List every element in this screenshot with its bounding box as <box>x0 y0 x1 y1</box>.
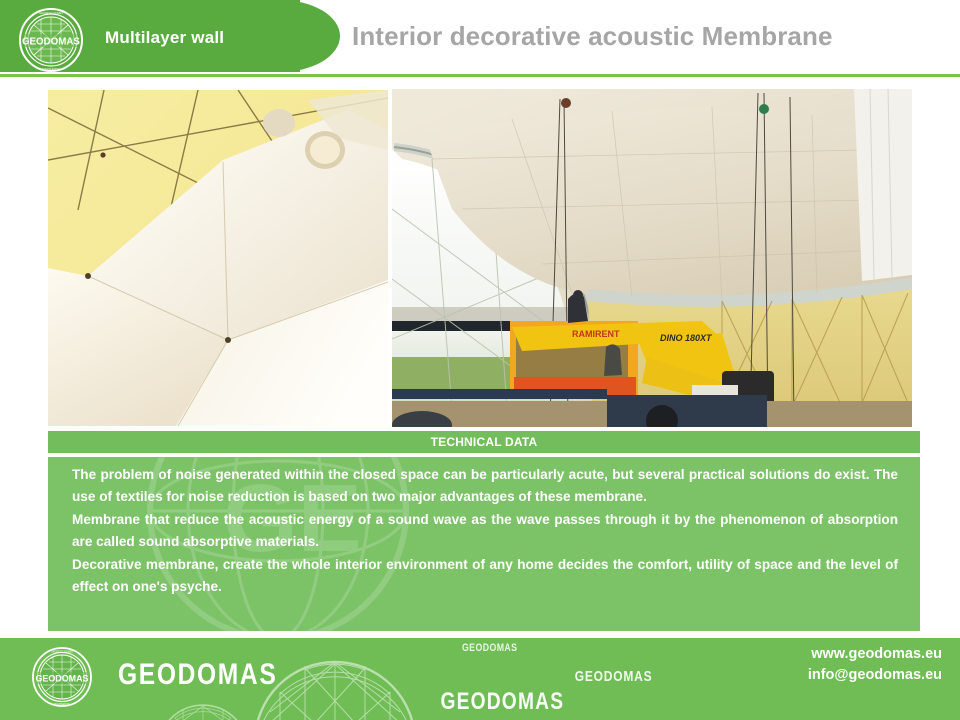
footer-geodomas-logo-icon: GEODOMAS GEODESIC DOMES ENGINEERING <box>26 646 98 708</box>
photo-dome-installation-boom-lift: RAMIRENT DINO 180XT <box>392 89 912 427</box>
svg-text:GEODOMAS: GEODOMAS <box>35 673 88 683</box>
technical-data-body: The problem of noise generated within th… <box>72 464 898 599</box>
panel-divider <box>48 453 920 457</box>
geodesic-dome-graphic-small <box>155 690 251 720</box>
footer-website[interactable]: www.geodomas.eu <box>808 644 942 665</box>
footer-contact-block: www.geodomas.eu info@geodomas.eu <box>808 644 942 686</box>
footer-wordmark: GEODOMAS <box>118 658 277 692</box>
technical-data-panel: GE TECHNICAL DATA The problem of noise g… <box>48 431 920 631</box>
paragraph-noise-problem: The problem of noise generated within th… <box>72 464 898 508</box>
header-rule <box>0 74 960 77</box>
paragraph-sound-absorptive: Membrane that reduce the acoustic energy… <box>72 509 898 553</box>
page-title: Interior decorative acoustic Membrane <box>352 21 833 52</box>
svg-text:GEODESIC DOMES: GEODESIC DOMES <box>51 651 73 654</box>
svg-text:RAMIRENT: RAMIRENT <box>572 329 620 339</box>
svg-text:GEODESIC DOMES: GEODESIC DOMES <box>39 11 63 15</box>
svg-text:ENGINEERING: ENGINEERING <box>42 67 60 71</box>
panel-left-gap <box>0 620 48 638</box>
header-green-curve <box>250 0 340 72</box>
svg-text:GEODOMAS: GEODOMAS <box>22 36 80 47</box>
slide: GEODOMAS GEODESIC DOMES ENGINEERING Mult… <box>0 0 960 720</box>
slide-header: GEODOMAS GEODESIC DOMES ENGINEERING Mult… <box>0 0 960 78</box>
svg-text:ENGINEERING: ENGINEERING <box>54 703 71 706</box>
footer-watermark-medium: GEODOMAS <box>575 668 653 685</box>
svg-text:DINO 180XT: DINO 180XT <box>660 333 713 343</box>
paragraph-decorative-membrane: Decorative membrane, create the whole in… <box>72 554 898 598</box>
geodomas-logo-icon: GEODOMAS GEODESIC DOMES ENGINEERING <box>12 7 90 73</box>
footer-watermark-large: GEODOMAS <box>440 688 564 716</box>
header-tab-label: Multilayer wall <box>105 28 224 48</box>
technical-data-heading-label: TECHNICAL DATA <box>431 435 538 449</box>
footer-watermark-small: GEODOMAS <box>462 642 518 654</box>
photo-membrane-interior-closeup <box>48 90 388 426</box>
footer-email[interactable]: info@geodomas.eu <box>808 665 942 686</box>
technical-data-heading: TECHNICAL DATA <box>48 431 920 453</box>
